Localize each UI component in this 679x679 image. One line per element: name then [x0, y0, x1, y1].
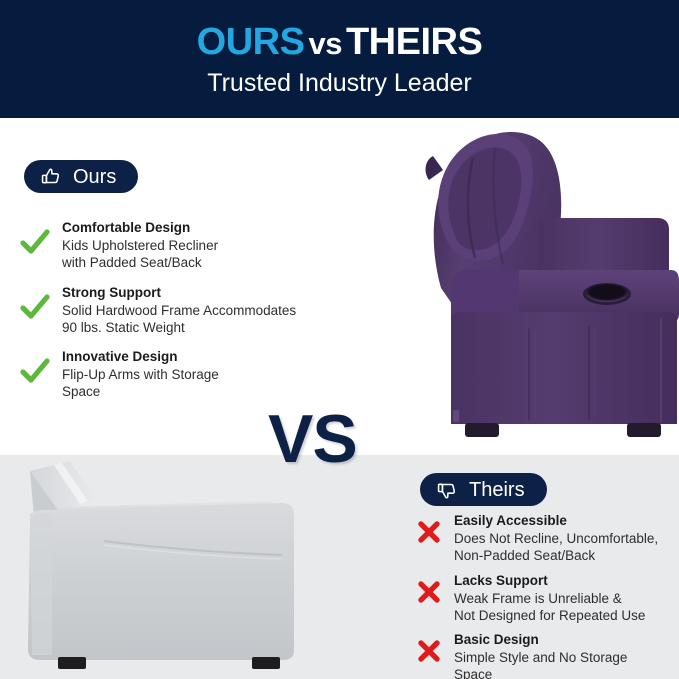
feature-desc: Does Not Recline, Uncomfortable, Non-Pad…	[454, 530, 679, 565]
feature-desc: Simple Style and No Storage Space	[454, 649, 679, 679]
feature-item: Strong Support Solid Hardwood Frame Acco…	[18, 284, 368, 337]
thumbs-down-icon	[436, 479, 458, 501]
product-image-theirs	[0, 455, 320, 679]
comparison-infographic: OURSvsTHEIRS Trusted Industry Leader Our…	[0, 0, 679, 679]
title-theirs: THEIRS	[346, 21, 482, 63]
feature-item: Lacks Support Weak Frame is Unreliable &…	[414, 572, 679, 625]
x-icon	[414, 577, 444, 607]
check-icon	[18, 354, 52, 388]
feature-item: Innovative Design Flip-Up Arms with Stor…	[18, 348, 368, 401]
badge-theirs-label: Theirs	[469, 480, 525, 500]
feature-item: Easily Accessible Does Not Recline, Unco…	[414, 512, 679, 565]
page-subtitle: Trusted Industry Leader	[207, 71, 472, 96]
product-image-ours	[399, 118, 679, 455]
badge-ours-label: Ours	[73, 167, 116, 187]
badge-theirs: Theirs	[420, 473, 547, 506]
feature-title: Lacks Support	[454, 573, 548, 588]
feature-title: Strong Support	[62, 285, 161, 300]
feature-desc: Solid Hardwood Frame Accommodates 90 lbs…	[62, 302, 368, 337]
feature-title: Easily Accessible	[454, 513, 567, 528]
badge-ours: Ours	[24, 160, 138, 193]
title-vs: vs	[308, 26, 341, 61]
feature-desc: Weak Frame is Unreliable & Not Designed …	[454, 590, 679, 625]
check-icon	[18, 225, 52, 259]
feature-desc: Flip-Up Arms with Storage Space	[62, 366, 368, 401]
feature-list-theirs: Easily Accessible Does Not Recline, Unco…	[414, 512, 679, 679]
feature-title: Basic Design	[454, 632, 539, 647]
x-icon	[414, 636, 444, 666]
feature-list-ours: Comfortable Design Kids Upholstered Recl…	[18, 219, 368, 413]
x-icon	[414, 517, 444, 547]
thumbs-up-icon	[40, 166, 62, 188]
feature-item: Basic Design Simple Style and No Storage…	[414, 631, 679, 679]
header-banner: OURSvsTHEIRS Trusted Industry Leader	[0, 0, 679, 118]
feature-title: Comfortable Design	[62, 220, 190, 235]
page-title: OURSvsTHEIRS	[197, 23, 483, 61]
feature-title: Innovative Design	[62, 349, 178, 364]
feature-desc: Kids Upholstered Recliner with Padded Se…	[62, 237, 368, 272]
vs-divider-label: VS	[268, 405, 357, 473]
title-ours: OURS	[197, 21, 305, 63]
feature-item: Comfortable Design Kids Upholstered Recl…	[18, 219, 368, 272]
check-icon	[18, 290, 52, 324]
